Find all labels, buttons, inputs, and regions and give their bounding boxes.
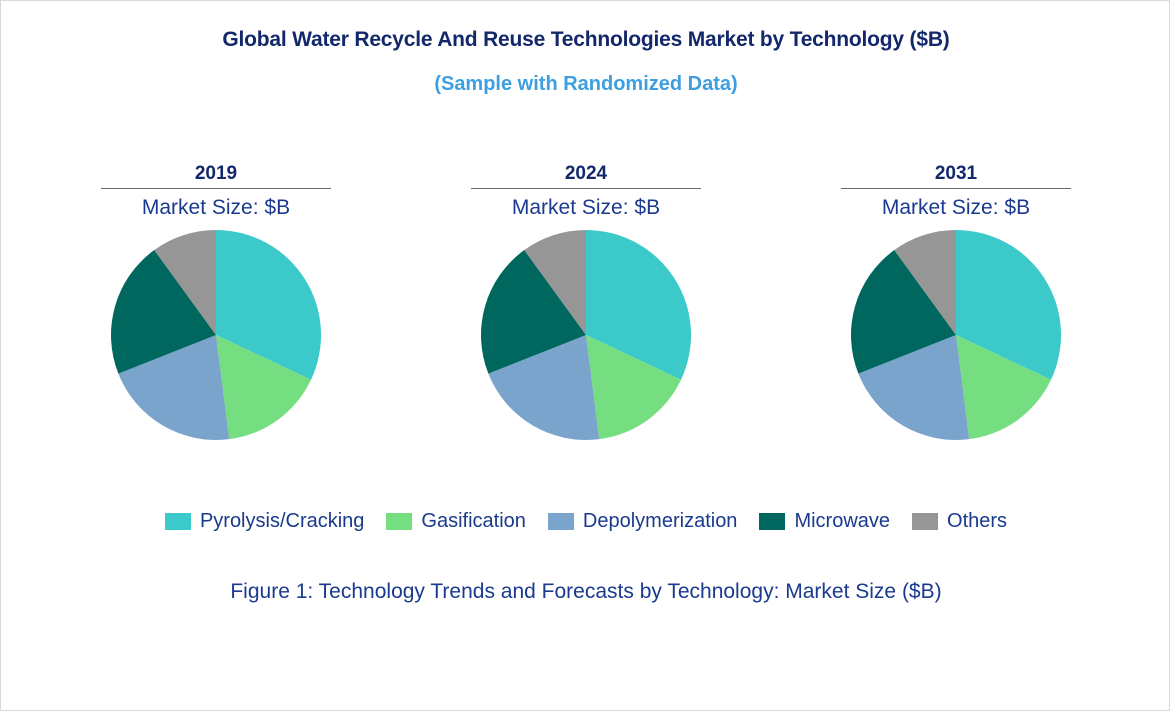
panel-year-label: 2024 (565, 163, 607, 185)
pie-panel-2031: 2031 Market Size: $B (796, 163, 1116, 441)
page-subtitle: (Sample with Randomized Data) (1, 72, 1170, 96)
panel-year-label: 2031 (935, 163, 977, 185)
legend-label: Others (947, 509, 1007, 533)
pie-chart-2031 (850, 229, 1062, 441)
legend-label: Gasification (421, 509, 526, 533)
legend-label: Pyrolysis/Cracking (200, 509, 364, 533)
legend-label: Microwave (794, 509, 890, 533)
legend-swatch-icon (548, 513, 574, 530)
legend-item[interactable]: Pyrolysis/Cracking (165, 509, 364, 533)
panel-measure-label: Market Size: $B (882, 195, 1030, 221)
panel-measure-label: Market Size: $B (142, 195, 290, 221)
legend-label: Depolymerization (583, 509, 738, 533)
legend-item[interactable]: Others (912, 509, 1007, 533)
legend-swatch-icon (759, 513, 785, 530)
pie-panel-2024: 2024 Market Size: $B (426, 163, 746, 441)
legend-swatch-icon (165, 513, 191, 530)
legend-swatch-icon (912, 513, 938, 530)
pie-panels-row: 2019 Market Size: $B 2024 Market Size: $… (56, 163, 1116, 441)
pie-panel-2019: 2019 Market Size: $B (56, 163, 376, 441)
panel-measure-label: Market Size: $B (512, 195, 660, 221)
panel-divider-rule (101, 188, 331, 189)
title-block: Global Water Recycle And Reuse Technolog… (1, 27, 1170, 96)
panel-divider-rule (471, 188, 701, 189)
legend-item[interactable]: Gasification (386, 509, 526, 533)
legend-swatch-icon (386, 513, 412, 530)
figure-caption: Figure 1: Technology Trends and Forecast… (1, 579, 1170, 605)
panel-divider-rule (841, 188, 1071, 189)
legend-item[interactable]: Depolymerization (548, 509, 738, 533)
pie-chart-2019 (110, 229, 322, 441)
panel-year-label: 2019 (195, 163, 237, 185)
page-title: Global Water Recycle And Reuse Technolog… (1, 27, 1170, 53)
chart-legend: Pyrolysis/CrackingGasificationDepolymeri… (1, 509, 1170, 533)
legend-item[interactable]: Microwave (759, 509, 890, 533)
pie-chart-2024 (480, 229, 692, 441)
chart-figure: Global Water Recycle And Reuse Technolog… (0, 0, 1170, 711)
